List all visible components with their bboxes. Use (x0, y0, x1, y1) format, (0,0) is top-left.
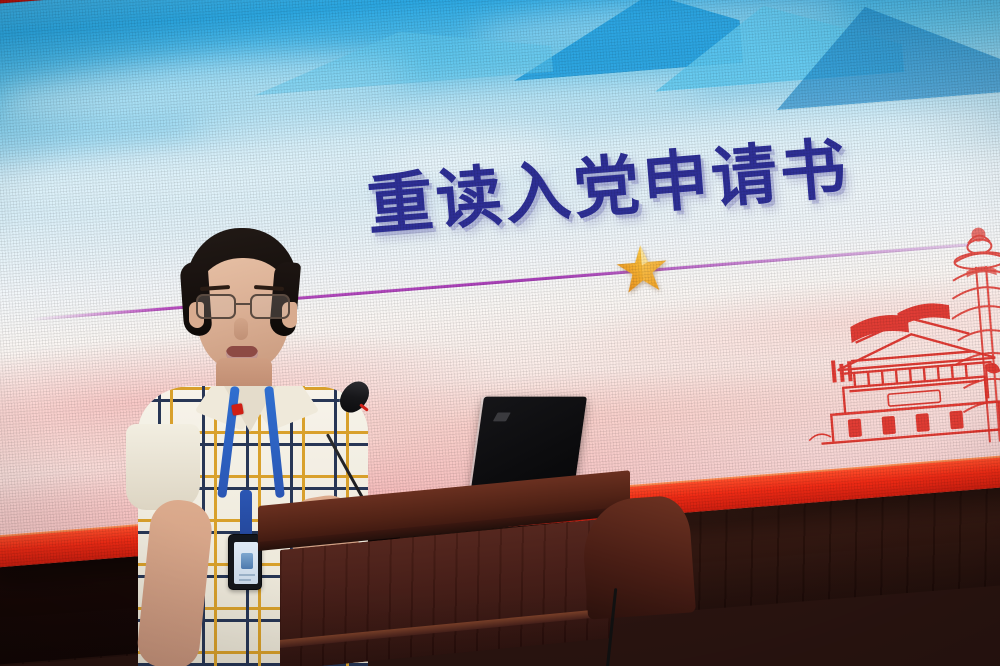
id-badge (228, 534, 262, 590)
id-badge-photo (241, 553, 253, 569)
party-emblem-pin (231, 403, 244, 416)
lectern (258, 492, 658, 666)
lanyard-strap-mid (240, 490, 252, 540)
glasses-icon (192, 294, 296, 320)
presentation-photo-scene: 重读入党申请书 重读入党申请书 忘初心牢记使命勇担当 (0, 0, 1000, 666)
id-badge-card (234, 542, 258, 584)
five-pointed-star-icon (613, 241, 671, 297)
laptop-logo (493, 412, 511, 421)
nose (234, 318, 248, 340)
sleeve-left (126, 424, 200, 510)
